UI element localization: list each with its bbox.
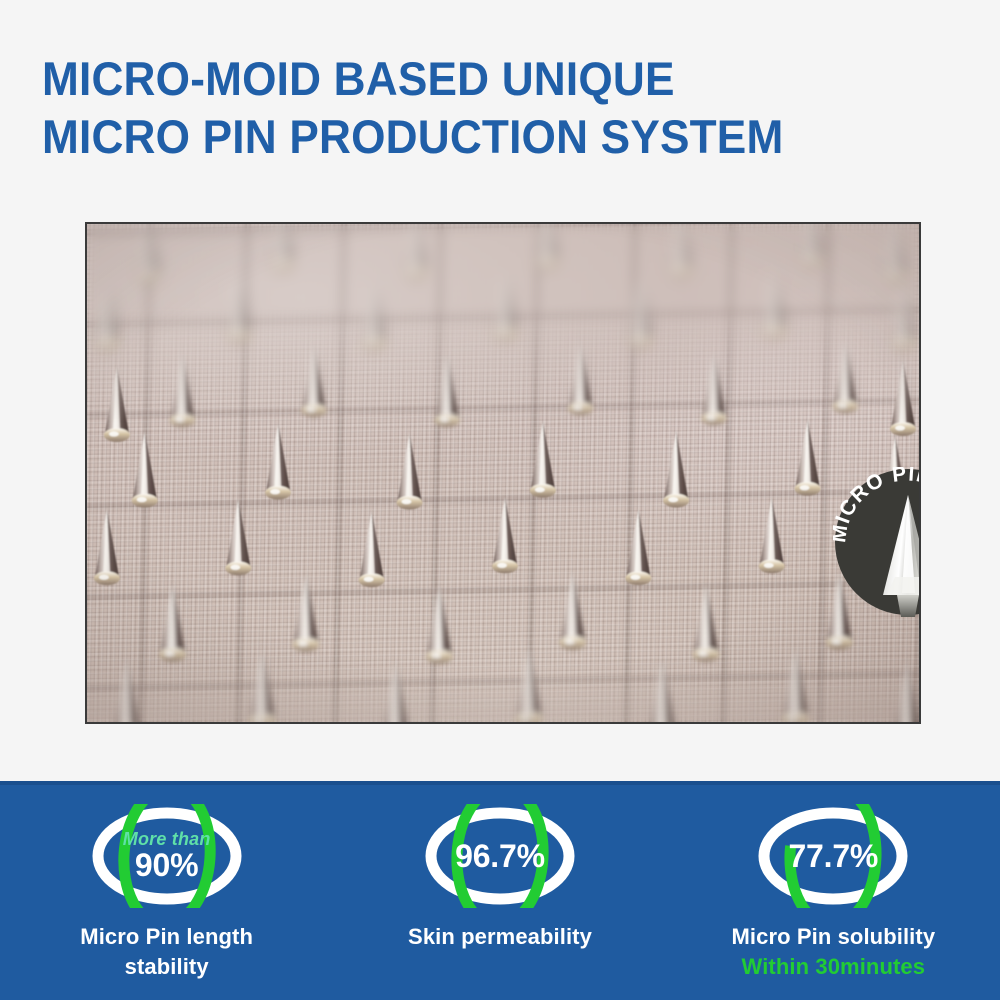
stat-1-ring: More than 90%: [87, 804, 247, 908]
stat-3-ring: 77.7%: [753, 804, 913, 908]
micro-pin-photo: MICRO PIN 200EA: [85, 222, 921, 724]
stat-1-labels: Micro Pin length stability: [0, 922, 333, 982]
stat-2-ring-svg: [420, 804, 580, 908]
pin-row-far: [137, 224, 907, 284]
micro-pin-badge-svg: MICRO PIN 200EA: [833, 467, 919, 617]
stat-micro-pin-length-stability: More than 90% Micro Pin length stability: [0, 785, 333, 982]
stat-3-ring-svg: [753, 804, 913, 908]
stats-row: More than 90% Micro Pin length stability…: [0, 785, 1000, 1000]
pin-row-sharp-3: [94, 497, 914, 588]
pin-row-far-2: [95, 266, 916, 351]
micro-pin-badge: MICRO PIN 200EA: [833, 467, 919, 617]
stat-1-label-line1: Micro Pin length: [8, 922, 325, 952]
page-title-line-1: MICRO-MOID BASED UNIQUE: [42, 50, 888, 108]
stat-2-label-line1: Skin permeability: [341, 922, 658, 952]
micro-pin-array: [87, 224, 919, 722]
stat-3-labels: Micro Pin solubility Within 30minutes: [667, 922, 1000, 982]
page-title-line-2: MICRO PIN PRODUCTION SYSTEM: [42, 108, 888, 166]
stat-1-label-line2: stability: [8, 952, 325, 982]
stat-2-ring: 96.7%: [420, 804, 580, 908]
stat-skin-permeability: 96.7% Skin permeability: [333, 785, 666, 952]
pin-row-mid-1: [170, 338, 858, 427]
stats-panel: More than 90% Micro Pin length stability…: [0, 781, 1000, 1000]
stat-1-ring-svg: [87, 804, 247, 908]
micro-pin-photo-inner: MICRO PIN 200EA: [87, 224, 919, 722]
stat-micro-pin-solubility: 77.7% Micro Pin solubility Within 30minu…: [667, 785, 1000, 982]
stat-2-ring-progress: [453, 804, 546, 908]
stat-3-sublabel: Within 30minutes: [675, 952, 992, 982]
pin-row-sharp-2: [132, 419, 908, 512]
stat-2-labels: Skin permeability: [333, 922, 666, 952]
pin-row-sharp-1: [104, 359, 916, 442]
page-title: MICRO-MOID BASED UNIQUE MICRO PIN PRODUC…: [42, 50, 942, 166]
pin-row-near-1: [159, 571, 852, 664]
stat-1-ring-progress: [119, 804, 214, 908]
stat-3-label-line1: Micro Pin solubility: [675, 922, 992, 952]
pin-row-near-2: [113, 645, 919, 722]
